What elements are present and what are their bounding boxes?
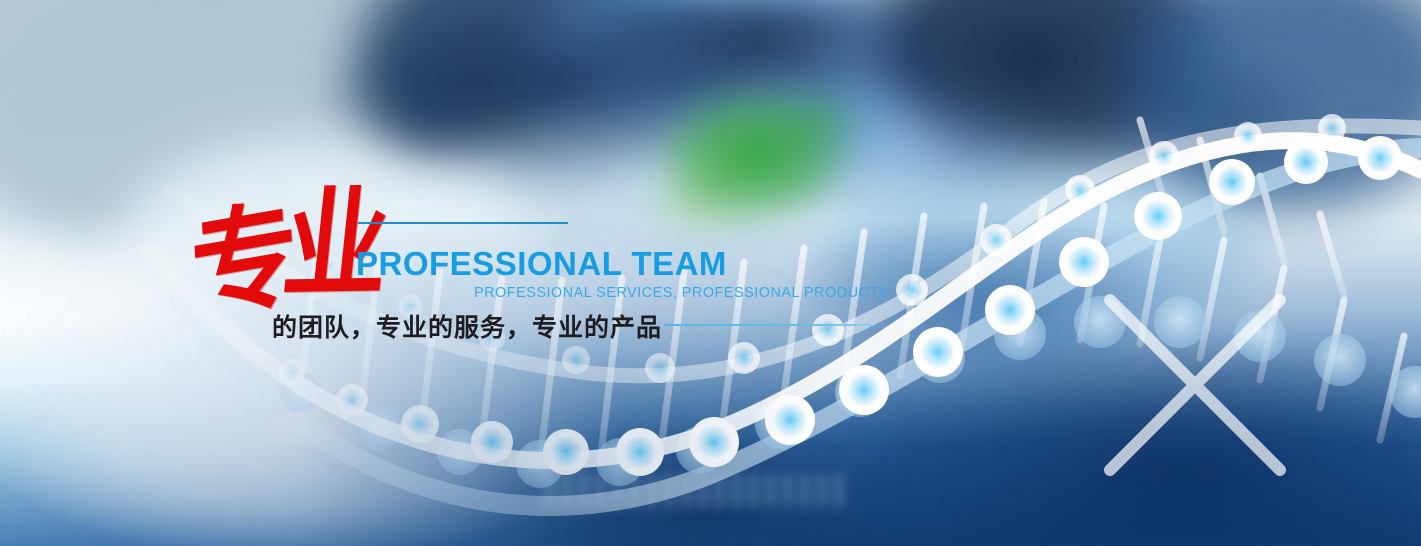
banner-text-block: 专业 PROFESSIONAL TEAM PROFESSIONAL SERVIC… [0, 0, 1421, 546]
banner-subheadline: PROFESSIONAL SERVICES, PROFESSIONAL PROD… [474, 285, 889, 301]
banner-headline: PROFESSIONAL TEAM [356, 245, 727, 283]
banner-chinese-tagline: 的团队，专业的服务，专业的产品 [272, 308, 662, 344]
decorative-rule-top [358, 222, 568, 224]
decorative-rule-bottom [664, 324, 874, 326]
promotional-banner: 专业 PROFESSIONAL TEAM PROFESSIONAL SERVIC… [0, 0, 1421, 546]
